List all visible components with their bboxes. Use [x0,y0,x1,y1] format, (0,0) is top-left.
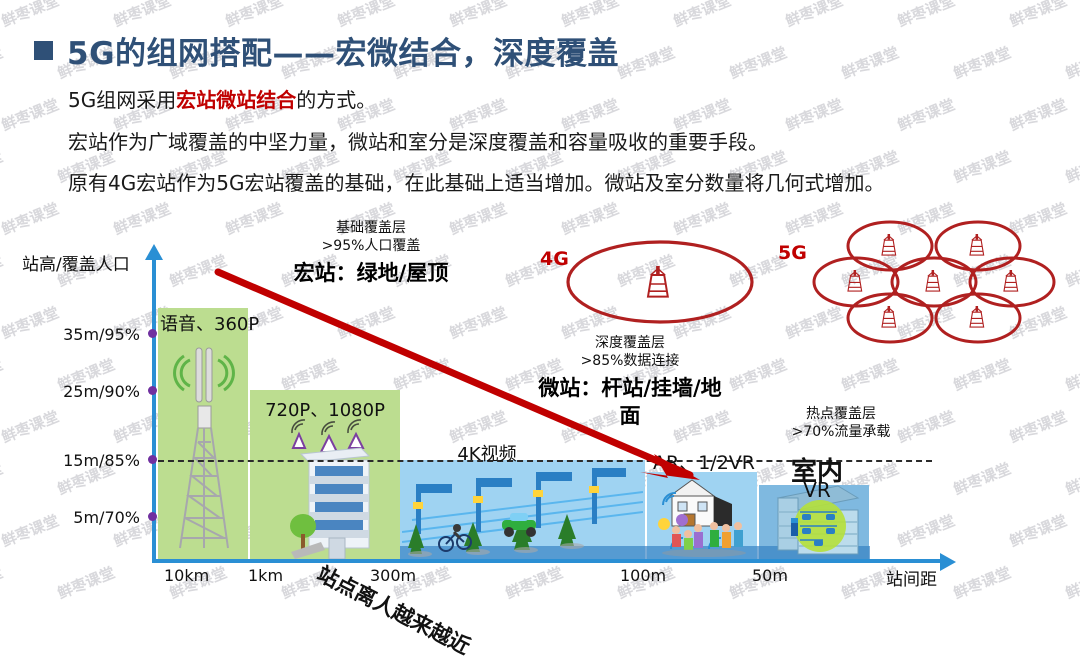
watermark-text: 鲜枣课堂 [558,0,622,31]
annotation-micro-title2: 面 [500,400,760,430]
x-axis-arrow [940,553,956,571]
cell-comparison-diagram: 4G 5G [0,218,1080,378]
x-axis-title: 站间距 [886,565,937,590]
watermark-text: 鲜枣课堂 [1006,94,1070,136]
square-bullet-icon [34,41,53,60]
watermark-text: 鲜枣课堂 [334,0,398,31]
annotation-hotspot: 热点覆盖层 >70%流量承载 [748,406,934,441]
y-tick-dot-2 [148,455,157,464]
watermark-text: 鲜枣课堂 [726,42,790,84]
paragraph-1-highlight: 宏站微站结合 [176,88,296,112]
label-720p-1080p: 720P、1080P [252,396,398,422]
watermark-text: 鲜枣课堂 [1062,146,1080,188]
label-ar-halfvr: AR、1/2VR [648,448,760,475]
y-tick-3: 5m/70% [73,508,140,527]
x-tick-0: 10km [164,566,209,585]
watermark-text: 鲜枣课堂 [782,0,846,31]
watermark-text: 鲜枣课堂 [950,42,1014,84]
paragraph-2: 宏站作为广域覆盖的中坚力量，微站和室分是深度覆盖和容量吸收的重要手段。 [68,126,768,155]
label-vr: VR [782,478,852,502]
watermark-text: 鲜枣课堂 [894,94,958,136]
watermark-text: 鲜枣课堂 [894,0,958,31]
watermark-text: 鲜枣课堂 [0,42,6,84]
watermark-text: 鲜枣课堂 [0,146,6,188]
watermark-text: 鲜枣课堂 [1062,42,1080,84]
watermark-text: 鲜枣课堂 [782,94,846,136]
watermark-text: 鲜枣课堂 [838,42,902,84]
rooftop-building-icon [285,416,377,559]
watermark-text: 鲜枣课堂 [446,0,510,31]
watermark-text: 鲜枣课堂 [222,0,286,31]
annotation-hotspot-line1: 热点覆盖层 [748,406,934,424]
label-4k-video: 4K视频 [432,440,542,466]
page-title-text: 5G的组网搭配——宏微结合，深度覆盖 [67,28,619,73]
residential-scene-illustration [652,474,756,558]
paragraph-3: 原有4G宏站作为5G宏站覆盖的基础，在此基础上适当增加。微站及室分数量将几何式增… [68,167,884,196]
paragraph-1-post: 的方式。 [296,88,376,112]
cell-5g-coverage [812,218,1056,346]
annotation-hotspot-line2: >70%流量承载 [748,424,934,442]
x-tick-1: 1km [248,566,283,585]
y-tick-dot-1 [148,386,157,395]
paragraph-1-pre: 5G组网采用 [68,88,176,112]
watermark-text: 鲜枣课堂 [950,146,1014,188]
y-tick-2: 15m/85% [63,451,140,470]
y-tick-dot-3 [148,512,157,521]
label-5g: 5G [778,242,807,264]
x-tick-3: 100m [620,566,666,585]
watermark-text: 鲜枣课堂 [614,42,678,84]
cell-4g-coverage [560,232,760,332]
street-scene-illustration [402,462,643,557]
paragraph-1: 5G组网采用宏站微站结合的方式。 [68,84,376,113]
watermark-text: 鲜枣课堂 [110,0,174,31]
watermark-text: 鲜枣课堂 [0,94,62,136]
x-tick-2: 300m [370,566,416,585]
watermark-text: 鲜枣课堂 [1006,0,1070,31]
page-title: 5G的组网搭配——宏微结合，深度覆盖 [34,28,619,73]
x-axis-line [152,559,942,563]
x-tick-4: 50m [752,566,788,585]
watermark-text: 鲜枣课堂 [670,0,734,31]
y-tick-1: 25m/90% [63,382,140,401]
watermark-text: 鲜枣课堂 [0,0,62,31]
